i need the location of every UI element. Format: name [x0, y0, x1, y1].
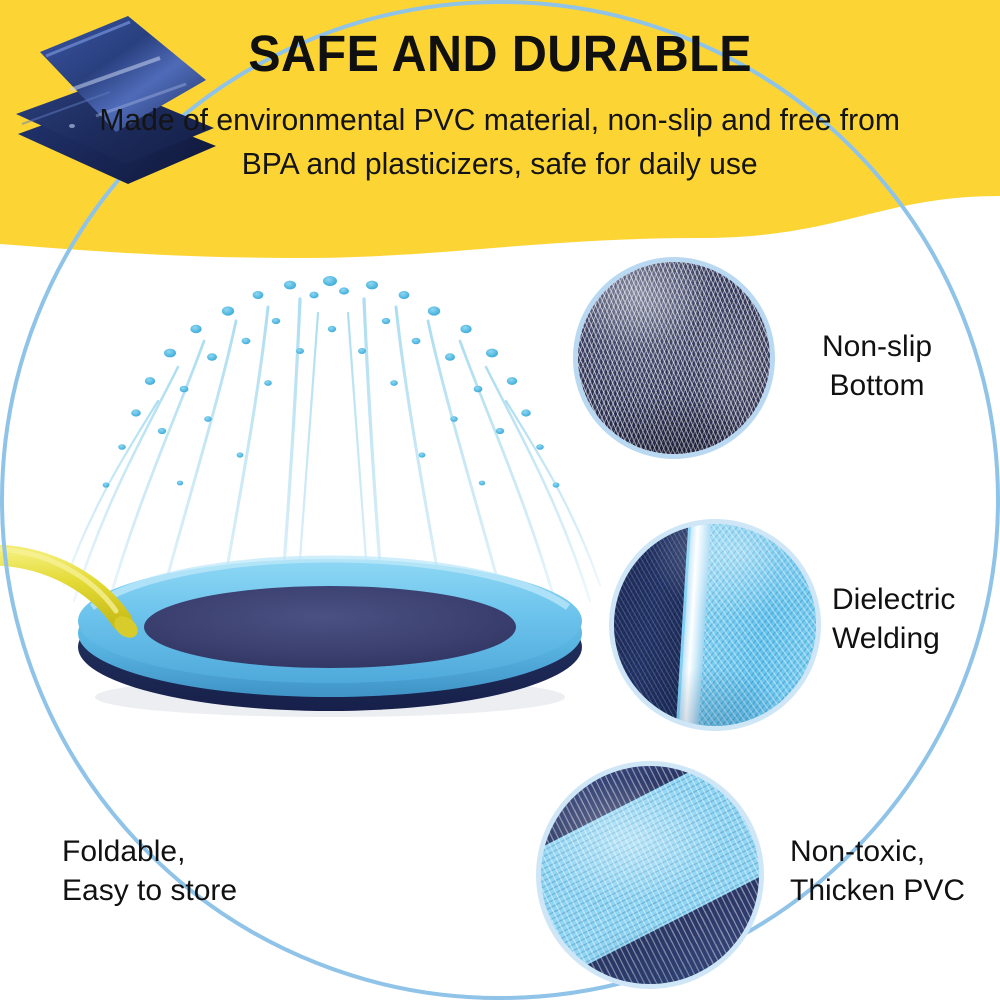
feature-label-line-2: Easy to store: [62, 871, 237, 910]
header-banner: SAFE AND DURABLE Made of environmental P…: [0, 0, 1000, 270]
feature-label-line-2: Thicken PVC: [790, 871, 965, 910]
banner-subtitle-line-2: BPA and plasticizers, safe for daily use: [100, 142, 901, 186]
infographic-page: SAFE AND DURABLE Made of environmental P…: [0, 0, 1000, 1000]
swatch-sheen: [541, 766, 759, 984]
banner-subtitle: Made of environmental PVC material, non-…: [87, 98, 912, 186]
banner-subtitle-line-1: Made of environmental PVC material, non-…: [100, 98, 901, 142]
feature-label-non-toxic-thicken-pvc: Non-toxic, Thicken PVC: [790, 832, 965, 910]
feature-label-foldable: Foldable, Easy to store: [62, 832, 237, 910]
feature-swatch-non-toxic-thicken-pvc: [541, 766, 759, 984]
feature-label-line-1: Foldable,: [62, 832, 237, 871]
feature-label-line-1: Non-toxic,: [790, 832, 965, 871]
page-title: SAFE AND DURABLE: [248, 26, 752, 81]
banner-text-block: SAFE AND DURABLE Made of environmental P…: [0, 0, 1000, 230]
